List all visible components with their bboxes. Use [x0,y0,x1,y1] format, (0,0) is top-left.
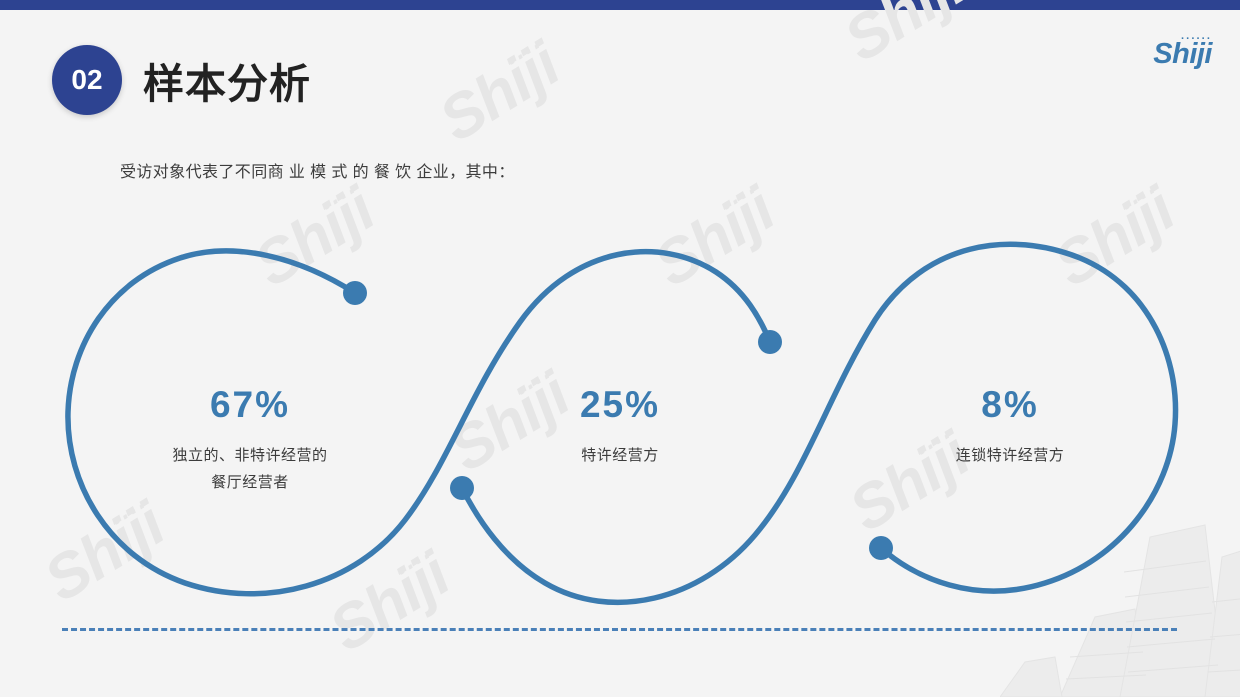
watermark-text: Shiji [1043,175,1186,300]
curve-endpoint-dot-3 [450,476,474,500]
watermark-dots: ···· [316,178,363,221]
stat-value: 25% [495,385,745,426]
watermark-text: Shiji [33,490,176,615]
curve-endpoint-dot-4 [869,536,893,560]
watermark-dots: ···· [106,493,153,536]
watermark-shiji: Shiji···· [245,178,385,297]
slide-header: 02 样本分析 Shiji······ [0,0,1240,130]
stat-value: 8% [880,385,1140,426]
section-number: 02 [71,64,102,96]
curve-endpoint-dot-2 [758,330,782,354]
building-watermark-svg [1000,497,1240,697]
stat-block-franchisor: 25% 特许经营方 [495,385,745,469]
stat-value: 67% [90,385,410,426]
stat-label: 特许经营方 [495,442,745,470]
stat-label: 连锁特许经营方 [880,442,1140,470]
footer-divider [62,628,1177,631]
watermark-dots: ···· [1116,178,1163,221]
building-watermark [1000,497,1240,697]
watermark-dots: ···· [391,543,438,586]
watermark-shiji: Shiji···· [320,543,460,662]
logo-dots-icon: ······ [1181,33,1212,45]
page-title: 样本分析 [143,50,311,110]
stat-label-line1: 独立的、非特许经营的 [90,442,410,470]
stat-label: 独立的、非特许经营的 餐厅经营者 [90,442,410,498]
watermark-text: Shiji [643,175,786,300]
stat-label-line1: 连锁特许经营方 [880,442,1140,470]
intro-text: 受访对象代表了不同商 业 模 式 的 餐 饮 企业，其中： [120,158,515,182]
shiji-logo: Shiji······ [1153,38,1212,71]
watermark-text: Shiji [318,540,461,665]
watermark-shiji: Shiji···· [35,493,175,612]
stat-block-independent: 67% 独立的、非特许经营的 餐厅经营者 [90,385,410,497]
curve-endpoint-dot-1 [343,281,367,305]
watermark-shiji: Shiji···· [645,178,785,297]
watermark-text: Shiji [243,175,386,300]
stat-label-line1: 特许经营方 [495,442,745,470]
watermark-shiji: Shiji···· [1045,178,1185,297]
watermark-dots: ···· [716,178,763,221]
stat-label-line2: 餐厅经营者 [90,469,410,497]
section-number-badge: 02 [52,45,122,115]
stat-block-chain-franchisor: 8% 连锁特许经营方 [880,385,1140,469]
